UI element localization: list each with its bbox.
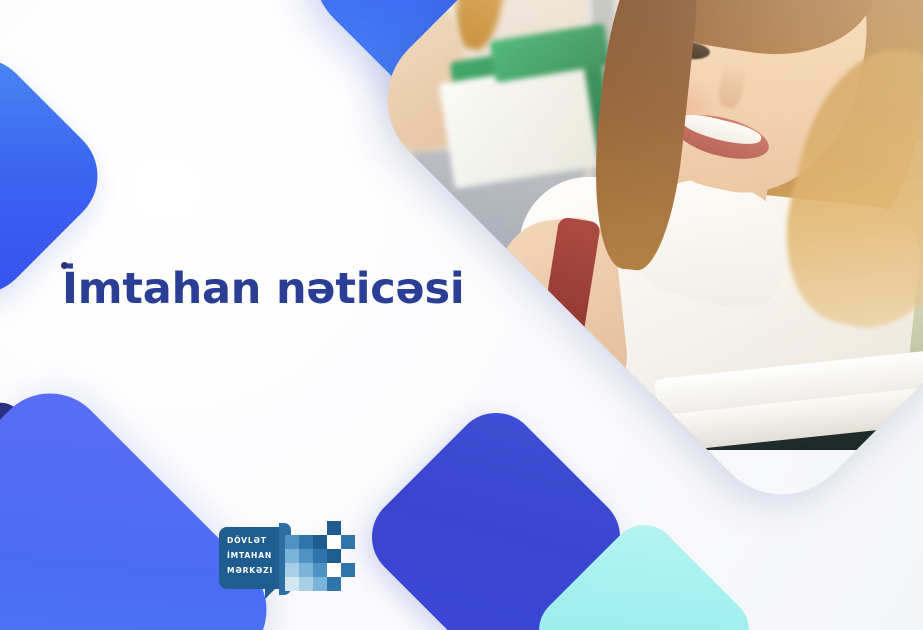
white-notebook — [439, 61, 600, 189]
logo-pixel-grid — [285, 521, 349, 599]
logo-pixel — [285, 535, 299, 549]
exam-result-banner: İmtahan nəticəsi Dövlət İmtahan Mərkəzi — [0, 0, 923, 630]
logo-pixel — [327, 535, 341, 549]
logo-line-2: İmtahan — [227, 548, 273, 563]
logo-pixel — [327, 521, 341, 535]
logo-line-1: Dövlət — [227, 533, 273, 548]
logo-pixel — [313, 563, 327, 577]
logo-pixel — [341, 563, 355, 577]
logo-pixel — [285, 577, 299, 591]
logo-pixel — [299, 563, 313, 577]
logo-pixel — [299, 549, 313, 563]
logo-pixel — [327, 549, 341, 563]
logo-speech-tail — [265, 585, 279, 599]
logo-pixel — [285, 549, 299, 563]
dovlet-imtahan-merkezi-logo: Dövlət İmtahan Mərkəzi — [219, 519, 349, 603]
logo-line-3: Mərkəzi — [227, 563, 273, 578]
logo-pixel — [313, 549, 327, 563]
logo-pixel — [299, 535, 313, 549]
logo-pixel — [341, 535, 355, 549]
logo-pixel — [285, 563, 299, 577]
logo-pixel — [299, 577, 313, 591]
logo-pixel — [313, 535, 327, 549]
logo-wordmark: Dövlət İmtahan Mərkəzi — [227, 533, 273, 578]
logo-pixel — [313, 577, 327, 591]
logo-pixel — [327, 577, 341, 591]
logo-pixel — [327, 563, 341, 577]
page-title: İmtahan nəticəsi — [62, 264, 464, 314]
